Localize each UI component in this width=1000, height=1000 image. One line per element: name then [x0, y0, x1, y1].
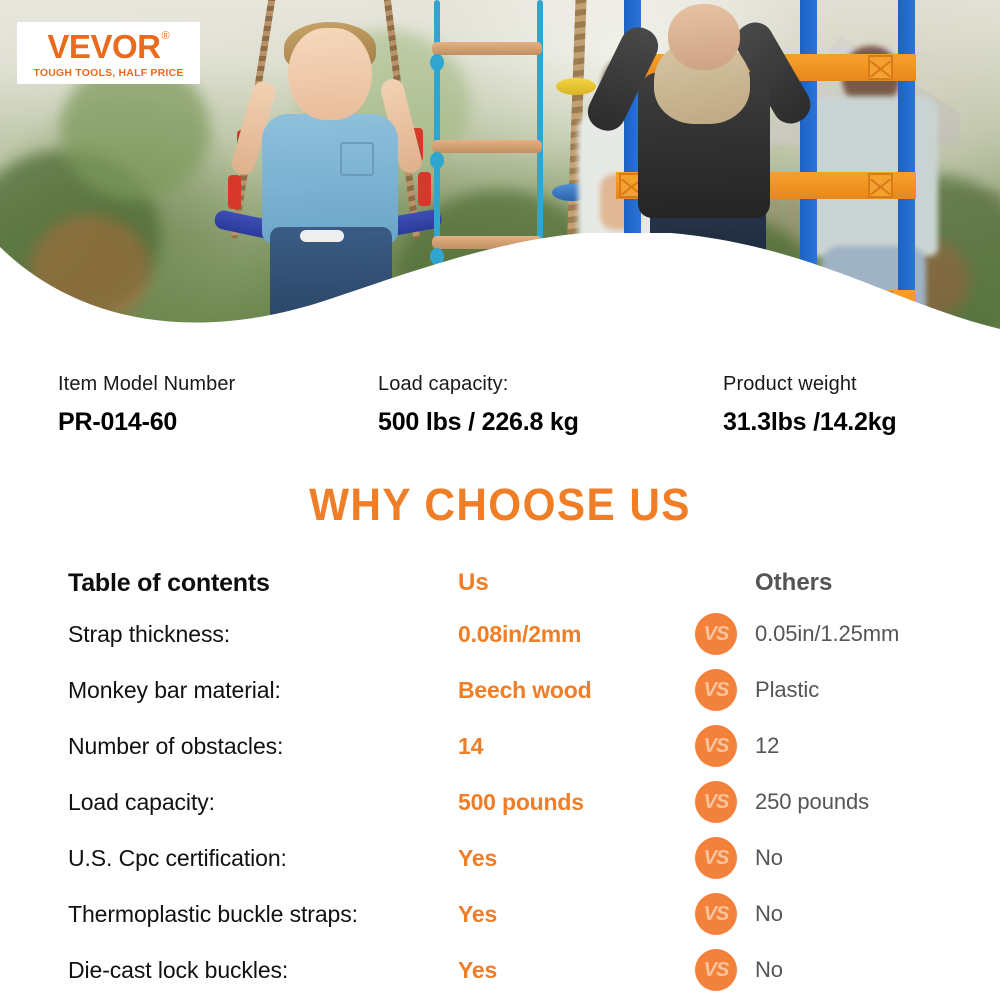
- spec-product-weight: Product weight 31.3lbs /14.2kg: [723, 372, 897, 437]
- vs-cell: VS: [695, 837, 755, 879]
- row-us-value: Yes: [458, 957, 695, 984]
- row-us-value: Yes: [458, 845, 695, 872]
- row-others-value: 0.05in/1.25mm: [755, 621, 1000, 647]
- wave-divider: [0, 233, 1000, 352]
- spec-label: Item Model Number: [58, 372, 378, 396]
- table-header-row: Table of contents Us Others: [0, 560, 1000, 606]
- spec-value: PR-014-60: [58, 407, 378, 437]
- ladder-knot: [430, 152, 444, 169]
- why-choose-us-heading: WHY CHOOSE US: [30, 479, 970, 531]
- boy-shirt: [262, 114, 398, 244]
- table-row: Load capacity: 500 pounds VS 250 pounds: [0, 774, 1000, 830]
- ladder-rung: [432, 140, 542, 153]
- boy-shirt-pocket: [340, 142, 374, 176]
- brand-tagline: TOUGH TOOLS, HALF PRICE: [33, 67, 183, 79]
- header-table-of-contents: Table of contents: [68, 569, 458, 598]
- ladder-rung: [432, 42, 542, 55]
- row-others-value: 12: [755, 733, 1000, 759]
- ladder-knot: [430, 54, 444, 71]
- child-head: [668, 4, 740, 70]
- spec-item-model-number: Item Model Number PR-014-60: [58, 372, 378, 437]
- row-others-value: No: [755, 901, 1000, 927]
- row-others-value: Plastic: [755, 677, 1000, 703]
- product-specs-row: Item Model Number PR-014-60 Load capacit…: [0, 372, 1000, 437]
- row-us-value: 500 pounds: [458, 789, 695, 816]
- strap-buckle-icon: [868, 55, 893, 80]
- row-label: Number of obstacles:: [68, 733, 458, 760]
- row-us-value: 14: [458, 733, 695, 760]
- vs-cell: VS: [695, 893, 755, 935]
- table-row: Number of obstacles: 14 VS 12: [0, 718, 1000, 774]
- row-others-value: No: [755, 845, 1000, 871]
- table-row: Thermoplastic buckle straps: Yes VS No: [0, 886, 1000, 942]
- row-us-value: Beech wood: [458, 677, 695, 704]
- table-row: U.S. Cpc certification: Yes VS No: [0, 830, 1000, 886]
- row-label: Die-cast lock buckles:: [68, 957, 458, 984]
- vs-badge-icon: VS: [695, 669, 737, 711]
- vs-cell: VS: [695, 669, 755, 711]
- vs-badge-icon: VS: [695, 837, 737, 879]
- vs-cell: VS: [695, 949, 755, 991]
- vs-cell: VS: [695, 725, 755, 767]
- infographic-page: VEVOR ® TOUGH TOOLS, HALF PRICE Item Mod…: [0, 0, 1000, 1000]
- trademark-icon: ®: [161, 31, 169, 42]
- strap-buckle-icon: [868, 173, 893, 198]
- row-us-value: Yes: [458, 901, 695, 928]
- row-others-value: No: [755, 957, 1000, 983]
- vs-badge-icon: VS: [695, 781, 737, 823]
- table-row: Strap thickness: 0.08in/2mm VS 0.05in/1.…: [0, 606, 1000, 662]
- brand-name: VEVOR: [47, 30, 160, 63]
- row-others-value: 250 pounds: [755, 789, 1000, 815]
- boy-head: [288, 28, 372, 120]
- row-label: Strap thickness:: [68, 621, 458, 648]
- header-us: Us: [458, 569, 695, 597]
- comparison-table: Table of contents Us Others Strap thickn…: [0, 560, 1000, 998]
- vs-cell: VS: [695, 613, 755, 655]
- row-label: U.S. Cpc certification:: [68, 845, 458, 872]
- spec-value: 500 lbs / 226.8 kg: [378, 407, 723, 437]
- spec-label: Product weight: [723, 372, 897, 396]
- vs-badge-icon: VS: [695, 949, 737, 991]
- vs-cell: VS: [695, 781, 755, 823]
- spec-value: 31.3lbs /14.2kg: [723, 407, 897, 437]
- vs-badge-icon: VS: [695, 725, 737, 767]
- row-label: Thermoplastic buckle straps:: [68, 901, 458, 928]
- row-label: Monkey bar material:: [68, 677, 458, 704]
- header-others: Others: [755, 569, 1000, 597]
- spec-load-capacity: Load capacity: 500 lbs / 226.8 kg: [378, 372, 723, 437]
- rope-stopper: [228, 175, 241, 209]
- vs-badge-icon: VS: [695, 613, 737, 655]
- spec-label: Load capacity:: [378, 372, 723, 396]
- rope-stopper: [418, 172, 431, 206]
- brand-logo: VEVOR ® TOUGH TOOLS, HALF PRICE: [17, 22, 200, 84]
- row-us-value: 0.08in/2mm: [458, 621, 695, 648]
- row-label: Load capacity:: [68, 789, 458, 816]
- vs-badge-icon: VS: [695, 893, 737, 935]
- table-row: Die-cast lock buckles: Yes VS No: [0, 942, 1000, 998]
- table-row: Monkey bar material: Beech wood VS Plast…: [0, 662, 1000, 718]
